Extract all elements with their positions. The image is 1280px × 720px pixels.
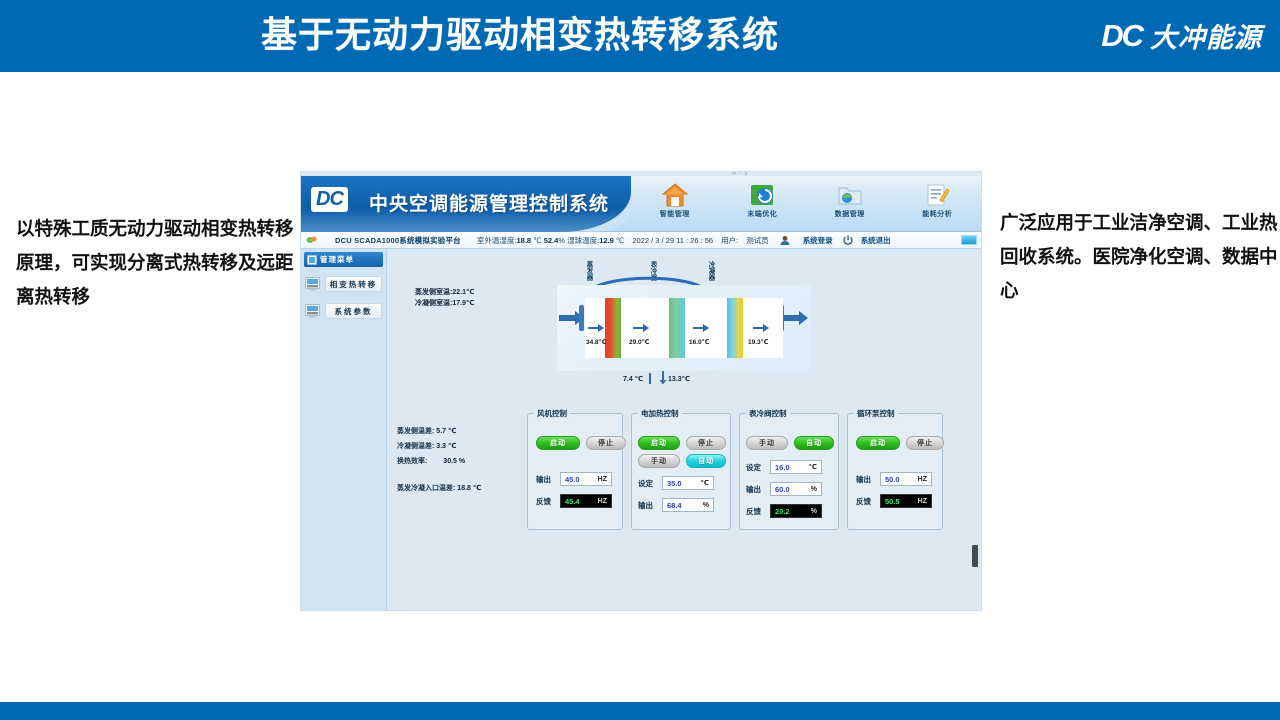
sidebar-header-label: 管理菜单 [320,254,354,265]
cooling-coil [669,298,685,358]
menu-icon [307,255,317,265]
fan-stop-button[interactable]: 停止 [586,436,626,450]
field-unit: % [703,502,709,509]
nav-label: 智能管理 [635,210,715,219]
app-nav: 智能管理 末端优化 数据管理 [631,179,981,231]
monitor-icon [305,304,320,318]
statistics-block: 蒸发侧温差: 5.7 ℃ 冷凝侧温差: 3.3 ℃ 换热效率: 30.5 % 蒸… [397,424,481,496]
stage-temp-2: 29.0℃ [629,338,650,346]
control-panel-cooling-valve: 表冷阀控制 手动 自动 设定 16.0 ℃ 输出 60.0 % 反馈 [739,413,839,530]
control-panel-fan: 风机控制 启动 停止 输出 45.0 HZ 反馈 45.4 HZ [527,413,623,530]
valve-auto-button[interactable]: 自动 [794,436,834,450]
room-temperatures: 蒸发侧室温:22.1℃ 冷凝侧室温:17.9℃ [415,287,474,309]
field-label: 输出 [746,484,766,495]
field-value: 50.5 [885,497,900,506]
condenser-room-temp: 冷凝侧室温:17.9℃ [415,298,474,309]
field-unit: HZ [598,498,607,505]
fan-feedback-field: 45.4 HZ [560,494,612,508]
field-unit: ℃ [809,463,817,471]
field-value: 50.0 [885,475,900,484]
field-unit: ℃ [701,479,709,487]
down-arrow-icon [659,371,667,385]
field-value: 35.0 [667,479,682,488]
field-value: 45.0 [565,475,580,484]
heater-output-row: 输出 68.4 % [638,498,714,512]
evaporator-coil [605,298,621,358]
field-label: 设定 [638,478,658,489]
flow-arrow-icon [753,324,769,332]
outdoor-humidity-unit: % [558,236,565,245]
flow-arrow-icon [633,324,649,332]
field-value: 60.0 [775,485,790,494]
system-logout-link[interactable]: 系统退出 [861,235,891,246]
report-icon [923,182,951,208]
sidebar-item-label: 相变热转移 [325,276,382,292]
power-icon [843,235,853,245]
stat-unit: ℃ [473,485,481,492]
field-unit: % [811,508,817,515]
control-panel-circulation-pump: 循环泵控制 启动 停止 输出 50.0 HZ 反馈 50.5 HZ [847,413,943,530]
stat-label: 换热效率: [397,458,427,465]
condenser-room-temp-value: 17.9 [452,300,466,307]
refresh-icon [748,182,776,208]
pump-stop-button[interactable]: 停止 [906,436,944,450]
valve-setpoint-field[interactable]: 16.0 ℃ [770,460,822,474]
stage-temp-3: 16.0℃ [689,338,710,346]
condenser-room-temp-unit: ℃ [466,300,474,307]
status-end-indicator [961,235,977,245]
user-name: 测试员 [746,235,769,246]
monitor-icon [305,277,320,291]
brand-name: 大冲能源 [1150,16,1262,55]
stat-unit: % [459,458,465,465]
control-title: 风机控制 [534,408,570,419]
valve-setpoint-row: 设定 16.0 ℃ [746,460,822,474]
system-datetime: 2022 / 3 / 29 11 : 26 : 56 [632,236,713,245]
divider-line [649,373,651,384]
field-label: 设定 [746,462,766,473]
heater-output-field[interactable]: 68.4 % [662,498,714,512]
wetbulb-value: 12.9 [599,236,614,245]
stage-temp-4: 19.3℃ [748,338,769,346]
outlet-arrow-icon [783,311,809,325]
outdoor-temp-value: 18.8 [516,236,531,245]
scada-screenshot: ※-∨ DC 中央空调能源管理控制系统 智能管理 [301,172,981,610]
flow-arrow-icon [588,324,604,332]
condenser-room-temp-label: 冷凝侧室温: [415,300,452,307]
scrollbar-thumb[interactable] [972,545,978,567]
right-description-text: 广泛应用于工业洁净空调、工业热回收系统。医院净化空调、数据中心 [1000,206,1278,308]
heater-manual-button[interactable]: 手动 [638,454,680,468]
condenser-coil [727,298,743,358]
nav-item-data-management[interactable]: 数据管理 [810,179,890,219]
valve-feedback-row: 反馈 20.2 % [746,504,822,518]
stat-evaporator-delta: 蒸发侧温差: 5.7 ℃ [397,424,481,439]
workspace: 蒸发侧室温:22.1℃ 冷凝侧室温:17.9℃ 蒸发器 表冷器 冷凝器 [387,249,981,610]
leaf-icon [306,235,317,245]
slide-header: 基于无动力驱动相变热转移系统 DC 大冲能源 [0,0,1280,72]
nav-label: 数据管理 [810,210,890,219]
stage-temp-1: 34.8℃ [586,338,607,346]
stat-label: 冷凝侧温差: [397,443,434,450]
outdoor-conditions: 室外温湿度:18.8 ℃ 52.4% 湿球温度:12.9 ℃ [477,235,624,246]
valve-manual-button[interactable]: 手动 [746,436,788,450]
evaporator-room-temp-value: 22.1 [452,289,466,296]
field-unit: % [811,486,817,493]
control-title: 表冷阀控制 [746,408,790,419]
stat-heat-efficiency: 换热效率: 30.5 % [397,454,481,469]
brand-mark: DC [1101,18,1142,54]
stat-condenser-delta: 冷凝侧温差: 3.3 ℃ [397,439,481,454]
folder-icon [836,182,864,208]
sidebar-item-system-parameters[interactable]: 系统参数 [305,301,382,321]
valve-output-row: 输出 60.0 % [746,482,822,496]
app-title: 中央空调能源管理控制系统 [369,189,609,216]
outdoor-temp-unit: ℃ [533,236,541,245]
stat-value: 30.5 [443,458,457,465]
sidebar-item-label: 系统参数 [325,303,382,319]
nav-item-energy-analysis[interactable]: 能耗分析 [897,179,977,219]
stat-unit: ℃ [448,428,456,435]
pump-output-row: 输出 50.0 HZ [856,472,932,486]
user-label: 用户: [721,235,738,246]
pump-feedback-row: 反馈 50.5 HZ [856,494,932,508]
fan-output-row: 输出 45.0 HZ [536,472,612,486]
fan-start-button[interactable]: 启动 [536,436,580,450]
stat-value: 18.8 [457,485,471,492]
heat-transfer-diagram: 34.8℃ 29.0℃ 16.0℃ 19.3℃ [557,285,811,371]
heater-auto-button[interactable]: 自动 [686,454,726,468]
field-label: 输出 [536,474,556,485]
bottom-temp-1: 7.4 ℃ [623,375,643,383]
valve-feedback-field: 20.2 % [770,504,822,518]
field-unit: HZ [598,476,607,483]
slide-footer [0,702,1280,720]
bottom-temp-2: 13.3℃ [668,375,690,383]
app-banner: DC 中央空调能源管理控制系统 智能管理 末端优化 [301,176,981,232]
control-title: 循环泵控制 [854,408,898,419]
field-label: 反馈 [746,506,766,517]
nav-item-terminal-optimization[interactable]: 末端优化 [722,179,802,219]
field-label: 输出 [856,474,876,485]
sidebar-header: 管理菜单 [304,252,383,267]
brand-logo: DC 大冲能源 [1101,16,1262,55]
field-unit: HZ [918,476,927,483]
control-title: 电加热控制 [638,408,682,419]
stat-label: 蒸发冷凝入口温差: [397,485,455,492]
field-unit: HZ [918,498,927,505]
sidebar-item-phase-change-heat-transfer[interactable]: 相变热转移 [305,274,382,294]
field-label: 反馈 [856,496,876,507]
pump-output-field[interactable]: 50.0 HZ [880,472,932,486]
stat-inlet-delta: 蒸发冷凝入口温差: 18.8 ℃ [397,481,481,496]
heater-stop-button[interactable]: 停止 [686,436,726,450]
user-icon [779,235,791,245]
status-bar: DCU SCADA1000系统模拟实验平台 室外温湿度:18.8 ℃ 52.4%… [301,232,981,249]
left-description-text: 以特殊工质无动力驱动相变热转移原理，可实现分离式热转移及远距离热转移 [16,212,296,314]
wetbulb-unit: ℃ [616,236,624,245]
field-value: 45.4 [565,497,580,506]
field-value: 68.4 [667,501,682,510]
evaporator-room-temp-label: 蒸发侧室温: [415,289,452,296]
field-value: 20.2 [775,507,790,516]
flow-arrow-icon [693,324,709,332]
field-value: 16.0 [775,463,790,472]
heater-setpoint-field[interactable]: 35.0 ℃ [662,476,714,490]
fan-output-field[interactable]: 45.0 HZ [560,472,612,486]
pump-feedback-field: 50.5 HZ [880,494,932,508]
stats-spacer [397,469,481,481]
evaporator-room-temp-unit: ℃ [466,289,474,296]
stat-unit: ℃ [448,443,456,450]
stat-value: 3.3 [436,443,446,450]
outdoor-label: 室外温湿度: [477,236,517,245]
sidebar: 管理菜单 相变热转移 系统参数 [301,249,387,610]
inlet-damper [579,305,584,331]
heat-exchanger-box: 34.8℃ 29.0℃ 16.0℃ 19.3℃ [585,298,783,358]
stat-label: 蒸发侧温差: [397,428,434,435]
nav-label: 能耗分析 [897,210,977,219]
fan-feedback-row: 反馈 45.4 HZ [536,494,612,508]
field-label: 反馈 [536,496,556,507]
heater-start-button[interactable]: 启动 [638,436,680,450]
control-panel-electric-heater: 电加热控制 启动 停止 手动 自动 设定 35.0 ℃ 输出 68.4 % [631,413,731,530]
system-login-link[interactable]: 系统登录 [803,235,833,246]
app-logo: DC [311,187,348,212]
wetbulb-label: 湿球温度: [567,236,599,245]
outdoor-humidity-value: 52.4 [544,236,559,245]
heater-setpoint-row: 设定 35.0 ℃ [638,476,714,490]
valve-output-field[interactable]: 60.0 % [770,482,822,496]
pump-start-button[interactable]: 启动 [856,436,900,450]
field-label: 输出 [638,500,658,511]
evaporator-room-temp: 蒸发侧室温:22.1℃ [415,287,474,298]
stat-value: 5.7 [436,428,446,435]
nav-item-smart-management[interactable]: 智能管理 [635,179,715,219]
page-title: 基于无动力驱动相变热转移系统 [0,6,1280,58]
home-icon [661,182,689,208]
platform-name: DCU SCADA1000系统模拟实验平台 [335,235,461,246]
nav-label: 末端优化 [722,210,802,219]
